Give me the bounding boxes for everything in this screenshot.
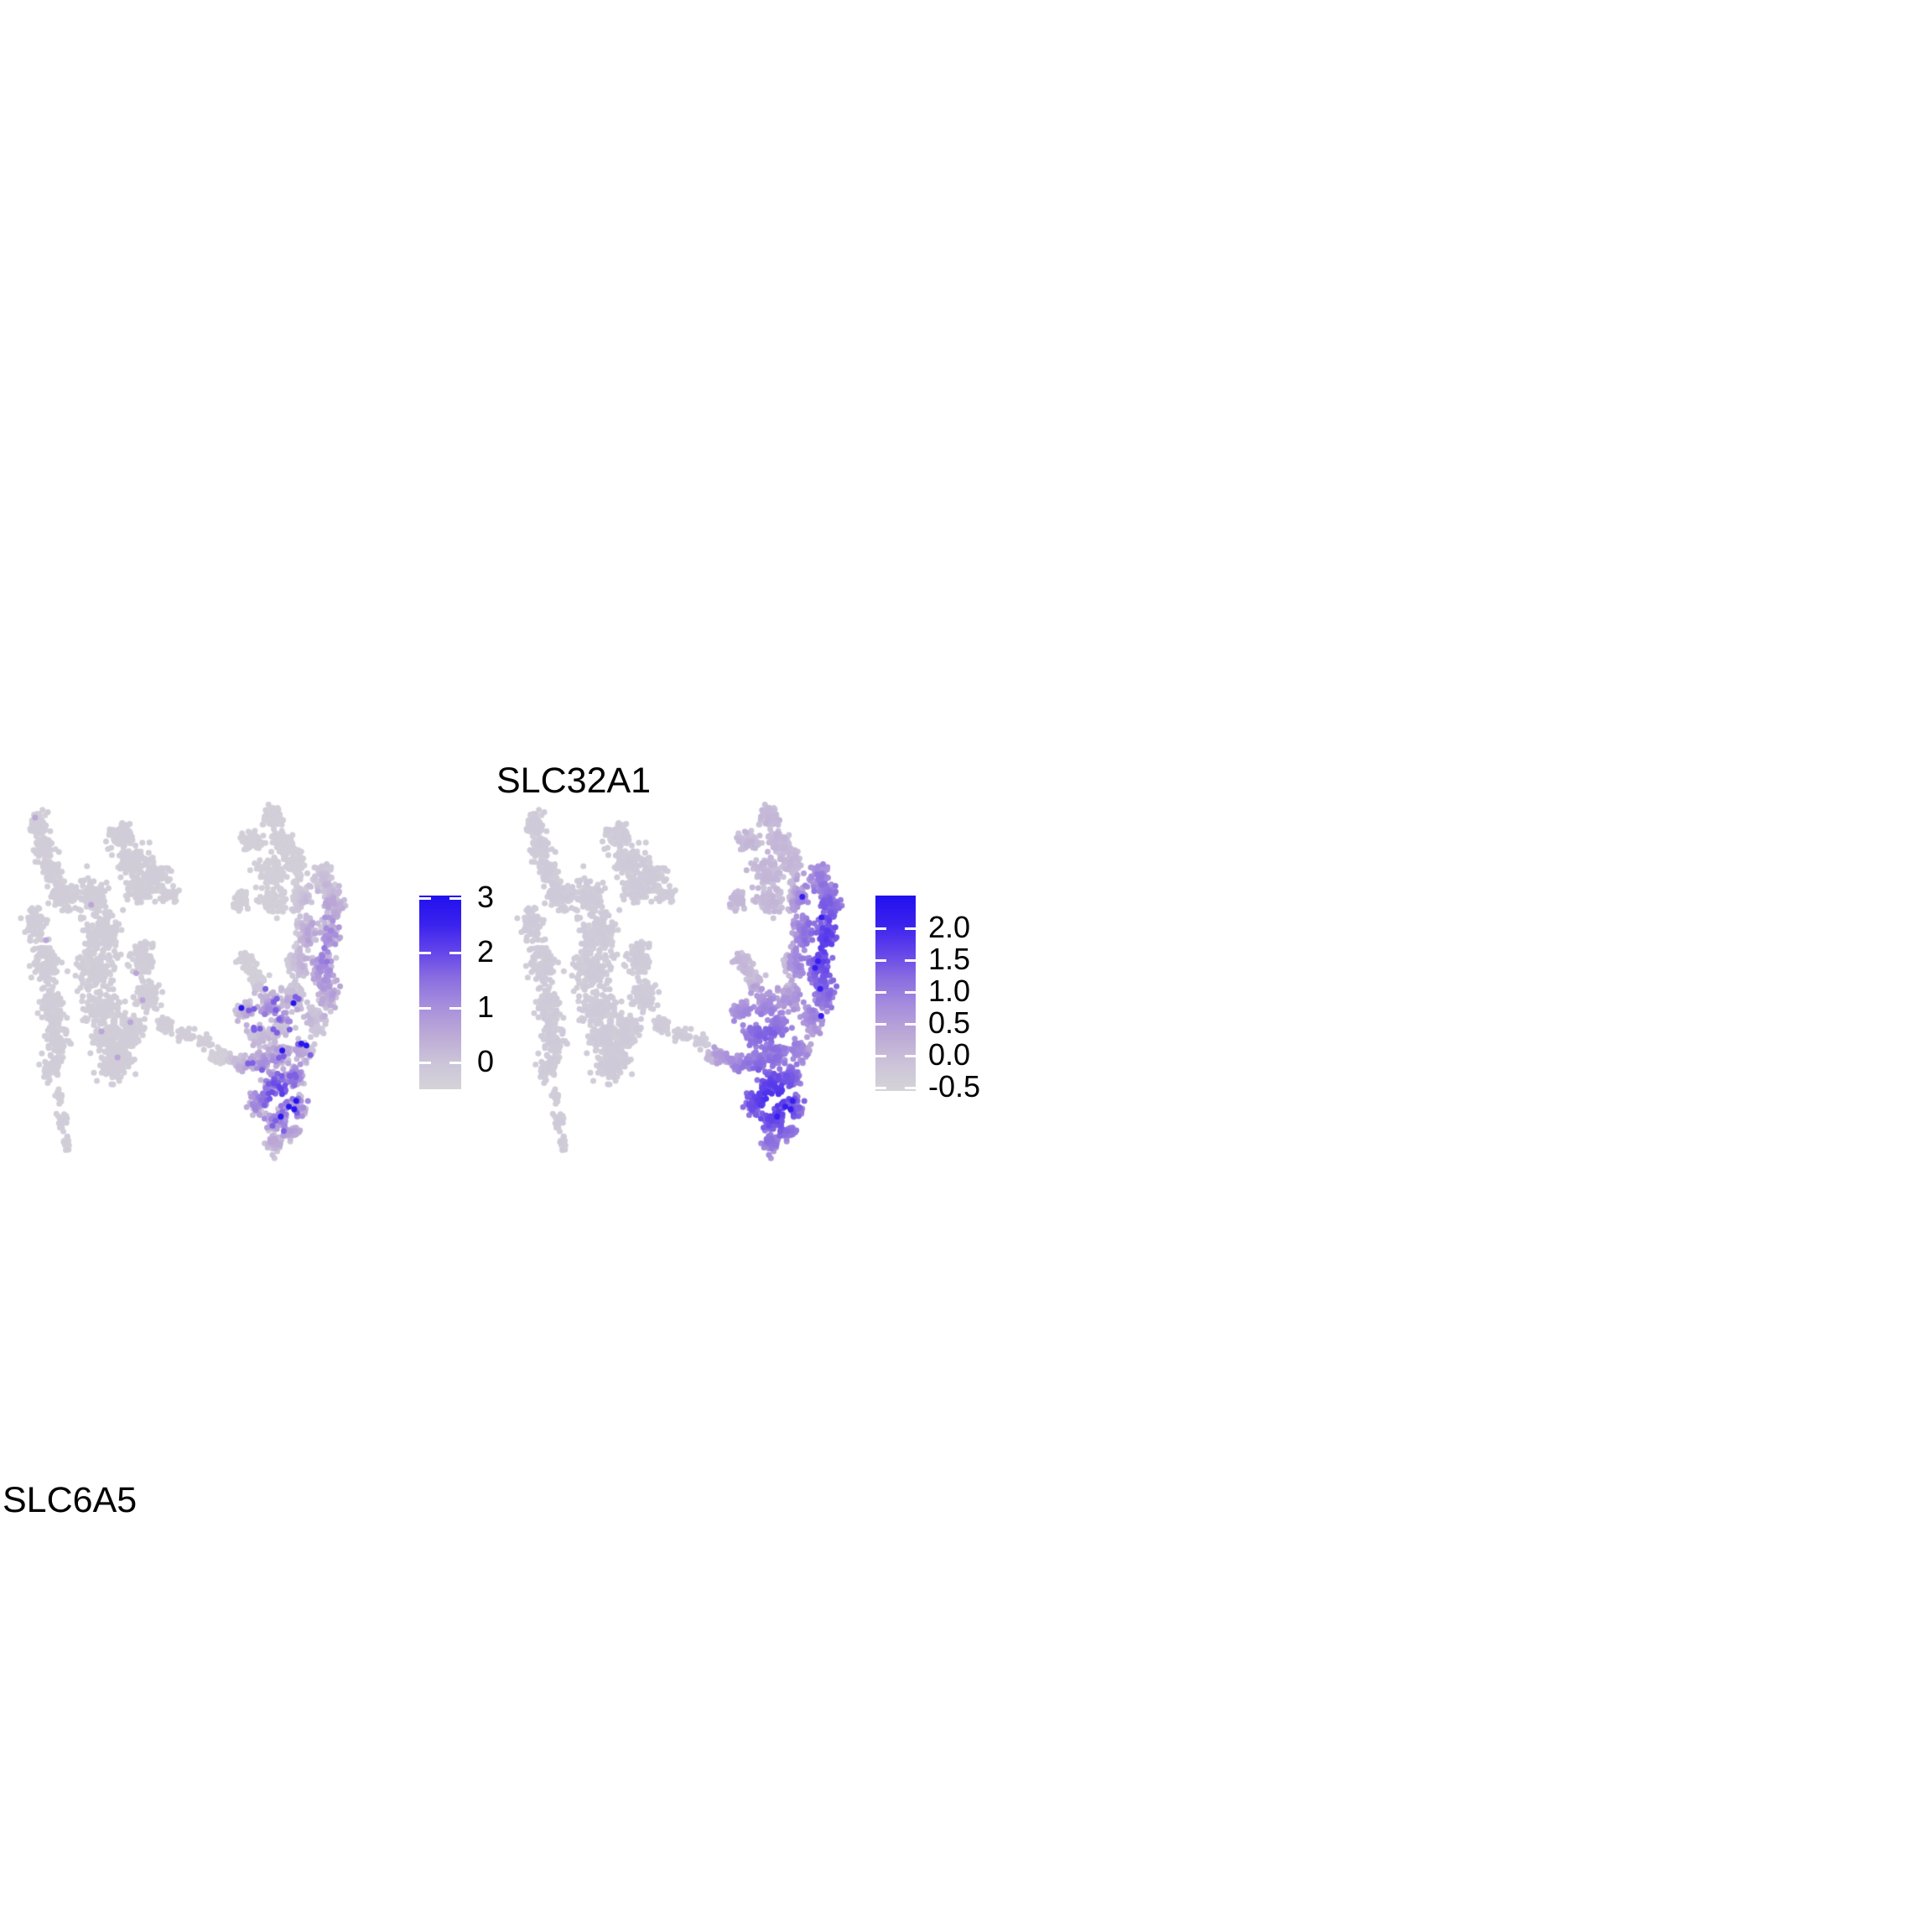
scatter-plot-slc6a5 bbox=[0, 797, 394, 1182]
umap-points-slc32a1 bbox=[496, 797, 891, 1182]
colorbar-tick-mark bbox=[419, 1062, 431, 1064]
colorbar-tick-mark bbox=[905, 1055, 916, 1057]
colorbar-tick-mark bbox=[875, 959, 886, 962]
colorbar-tick-mark bbox=[419, 897, 431, 900]
umap-points-slc6a5 bbox=[0, 797, 394, 1182]
figure-canvas: SLC6A5 3 2 1 0 SLC32A1 bbox=[0, 0, 1932, 1932]
colorbar-tick-mark bbox=[875, 991, 886, 994]
colorbar-gradient-slc6a5 bbox=[419, 896, 461, 1089]
panel-title-slc6a5: SLC6A5 bbox=[3, 1483, 137, 1519]
colorbar-label-slc32a1-neg-0-5: -0.5 bbox=[928, 1072, 980, 1102]
colorbar-tick-mark bbox=[875, 1023, 886, 1026]
colorbar-tick-mark bbox=[905, 991, 916, 994]
colorbar-tick-mark bbox=[875, 1055, 886, 1057]
colorbar-tick-mark bbox=[905, 1087, 916, 1089]
colorbar-tick-mark bbox=[449, 897, 461, 900]
colorbar-slc32a1: 2.0 1.5 1.0 0.5 0.0 -0.5 bbox=[875, 896, 1001, 1097]
colorbar-tick-mark bbox=[905, 927, 916, 930]
colorbar-label-slc32a1-1-0: 1.0 bbox=[928, 976, 970, 1006]
colorbar-label-slc32a1-0-5: 0.5 bbox=[928, 1008, 970, 1038]
scatter-plot-slc32a1 bbox=[496, 797, 891, 1182]
colorbar-tick-mark bbox=[875, 1087, 886, 1089]
colorbar-tick-mark bbox=[905, 1023, 916, 1026]
colorbar-label-slc32a1-2-0: 2.0 bbox=[928, 912, 970, 943]
colorbar-tick-mark bbox=[875, 927, 886, 930]
colorbar-tick-mark bbox=[419, 952, 431, 954]
panel-title-slc32a1: SLC32A1 bbox=[496, 763, 651, 799]
colorbar-label-slc32a1-0-0: 0.0 bbox=[928, 1040, 970, 1070]
colorbar-tick-mark bbox=[419, 1007, 431, 1010]
colorbar-tick-mark bbox=[449, 952, 461, 954]
colorbar-tick-mark bbox=[449, 1062, 461, 1064]
colorbar-tick-mark bbox=[905, 959, 916, 962]
colorbar-tick-mark bbox=[449, 1007, 461, 1010]
colorbar-label-slc32a1-1-5: 1.5 bbox=[928, 944, 970, 974]
